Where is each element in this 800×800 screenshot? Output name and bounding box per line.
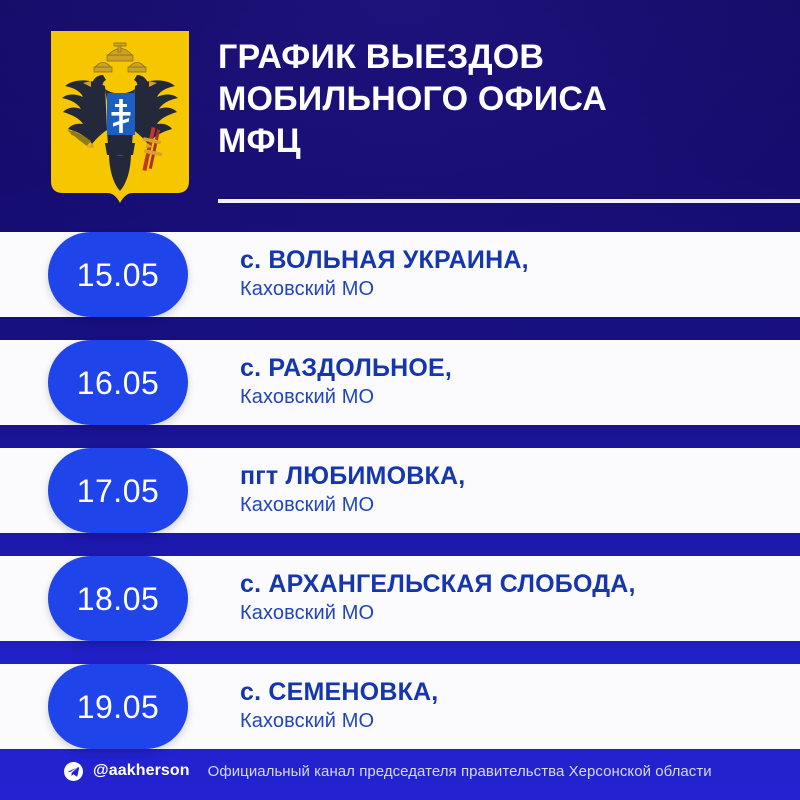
telegram-handle[interactable]: @aakherson <box>93 762 190 780</box>
place-name: пгт ЛЮБИМОВКА, <box>240 461 792 491</box>
date-label: 17.05 <box>77 475 160 507</box>
schedule-list: 15.05 с. ВОЛЬНАЯ УКРАИНА, Каховский МО 1… <box>0 232 800 772</box>
date-badge[interactable]: 16.05 <box>48 340 188 425</box>
telegram-icon <box>64 762 83 781</box>
schedule-row[interactable]: 17.05 пгт ЛЮБИМОВКА, Каховский МО <box>0 448 800 533</box>
date-label: 15.05 <box>77 259 160 291</box>
footer-note: Официальный канал председателя правитель… <box>208 763 712 780</box>
poster-header: ГРАФИК ВЫЕЗДОВ МОБИЛЬНОГО ОФИСА МФЦ <box>0 0 800 232</box>
place-district: Каховский МО <box>240 600 792 626</box>
poster-footer: @aakherson Официальный канал председател… <box>0 742 800 800</box>
title-line-3: МФЦ <box>218 120 784 162</box>
date-badge[interactable]: 18.05 <box>48 556 188 641</box>
place-district: Каховский МО <box>240 492 792 518</box>
date-label: 18.05 <box>77 583 160 615</box>
row-text-group: с. СЕМЕНОВКА, Каховский МО <box>240 677 792 734</box>
place-name: с. АРХАНГЕЛЬСКАЯ СЛОБОДА, <box>240 569 792 599</box>
page-title: ГРАФИК ВЫЕЗДОВ МОБИЛЬНОГО ОФИСА МФЦ <box>218 36 784 162</box>
date-badge[interactable]: 17.05 <box>48 448 188 533</box>
place-name: с. ВОЛЬНАЯ УКРАИНА, <box>240 245 792 275</box>
date-badge[interactable]: 19.05 <box>48 664 188 749</box>
place-name: с. РАЗДОЛЬНОЕ, <box>240 353 792 383</box>
row-text-group: с. АРХАНГЕЛЬСКАЯ СЛОБОДА, Каховский МО <box>240 569 792 626</box>
title-divider <box>218 199 800 203</box>
row-text-group: пгт ЛЮБИМОВКА, Каховский МО <box>240 461 792 518</box>
place-name: с. СЕМЕНОВКА, <box>240 677 792 707</box>
place-district: Каховский МО <box>240 276 792 302</box>
row-text-group: с. РАЗДОЛЬНОЕ, Каховский МО <box>240 353 792 410</box>
row-text-group: с. ВОЛЬНАЯ УКРАИНА, Каховский МО <box>240 245 792 302</box>
place-district: Каховский МО <box>240 708 792 734</box>
title-line-2: МОБИЛЬНОГО ОФИСА <box>218 78 784 120</box>
schedule-row[interactable]: 16.05 с. РАЗДОЛЬНОЕ, Каховский МО <box>0 340 800 425</box>
schedule-row[interactable]: 19.05 с. СЕМЕНОВКА, Каховский МО <box>0 664 800 749</box>
date-label: 16.05 <box>77 367 160 399</box>
schedule-row[interactable]: 15.05 с. ВОЛЬНАЯ УКРАИНА, Каховский МО <box>0 232 800 317</box>
kherson-coat-of-arms-icon <box>47 31 193 214</box>
schedule-row[interactable]: 18.05 с. АРХАНГЕЛЬСКАЯ СЛОБОДА, Каховски… <box>0 556 800 641</box>
place-district: Каховский МО <box>240 384 792 410</box>
poster-canvas: ГРАФИК ВЫЕЗДОВ МОБИЛЬНОГО ОФИСА МФЦ 15.0… <box>0 0 800 800</box>
date-label: 19.05 <box>77 691 160 723</box>
title-line-1: ГРАФИК ВЫЕЗДОВ <box>218 36 784 78</box>
date-badge[interactable]: 15.05 <box>48 232 188 317</box>
